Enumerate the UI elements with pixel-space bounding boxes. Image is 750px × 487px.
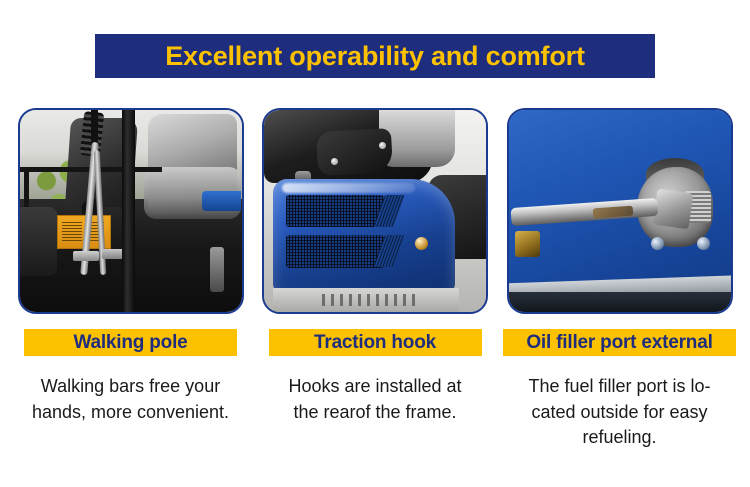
feature-description-traction-hook: Hooks are installed at the rearof the fr…: [259, 374, 492, 425]
brass-fitting-shape: [515, 231, 539, 257]
feature-description-oil-filler-port: The fuel filler port is lo- cated outsid…: [503, 374, 736, 451]
photo-scene-filler-lever: [509, 110, 731, 312]
foot-pedal-1: [73, 251, 100, 261]
frame-post-main: [122, 110, 135, 312]
feature-card-walking-pole: Walking pole Walking bars free your hand…: [14, 108, 247, 451]
description-line: The fuel filler port is lo-: [503, 374, 736, 400]
description-line: refueling.: [503, 425, 736, 451]
feature-caption-label: Walking pole: [73, 332, 187, 354]
vent-grille-lower: [286, 235, 384, 267]
feature-caption-label: Traction hook: [314, 332, 436, 354]
feature-photo-walking-pole: [18, 108, 244, 314]
description-line: the rearof the frame.: [259, 400, 492, 426]
cover-plate-shape: [316, 128, 394, 176]
description-line: cated outside for easy: [503, 400, 736, 426]
feature-caption-bar-oil-filler-port: Oil filler port external: [503, 329, 736, 356]
feature-card-oil-filler-port: Oil filler port external The fuel filler…: [503, 108, 736, 451]
base-vent-slots: [322, 294, 415, 306]
feature-caption-bar-traction-hook: Traction hook: [269, 329, 482, 356]
lower-dark-band: [509, 292, 731, 312]
photo-scene-excavator-cab: [20, 110, 242, 312]
vent-grille-upper: [286, 195, 384, 227]
title-banner-fill: Excellent operability and comfort: [95, 34, 655, 78]
mount-screw-1: [651, 237, 664, 250]
feature-columns: Walking pole Walking bars free your hand…: [0, 108, 750, 451]
blue-armrest-shape: [202, 191, 242, 211]
photo-scene-engine-hood: [264, 110, 486, 312]
side-panel-shape: [20, 207, 58, 276]
feature-photo-oil-filler-port: [507, 108, 733, 314]
feature-caption-label: Oil filler port external: [526, 332, 712, 354]
feature-description-walking-pole: Walking bars free your hands, more conve…: [14, 374, 247, 425]
feature-photo-traction-hook: [262, 108, 488, 314]
feature-caption-bar-walking-pole: Walking pole: [24, 329, 237, 356]
feature-card-traction-hook: Traction hook Hooks are installed at the…: [259, 108, 492, 451]
hex-nut-shape: [653, 189, 693, 230]
description-line: Walking bars free your: [14, 374, 247, 400]
title-banner: Excellent operability and comfort: [0, 34, 750, 78]
hood-highlight: [282, 183, 415, 193]
description-line: Hooks are installed at: [259, 374, 492, 400]
page-title: Excellent operability and comfort: [165, 43, 585, 70]
description-line: hands, more convenient.: [14, 400, 247, 426]
joystick-shape: [210, 247, 223, 291]
